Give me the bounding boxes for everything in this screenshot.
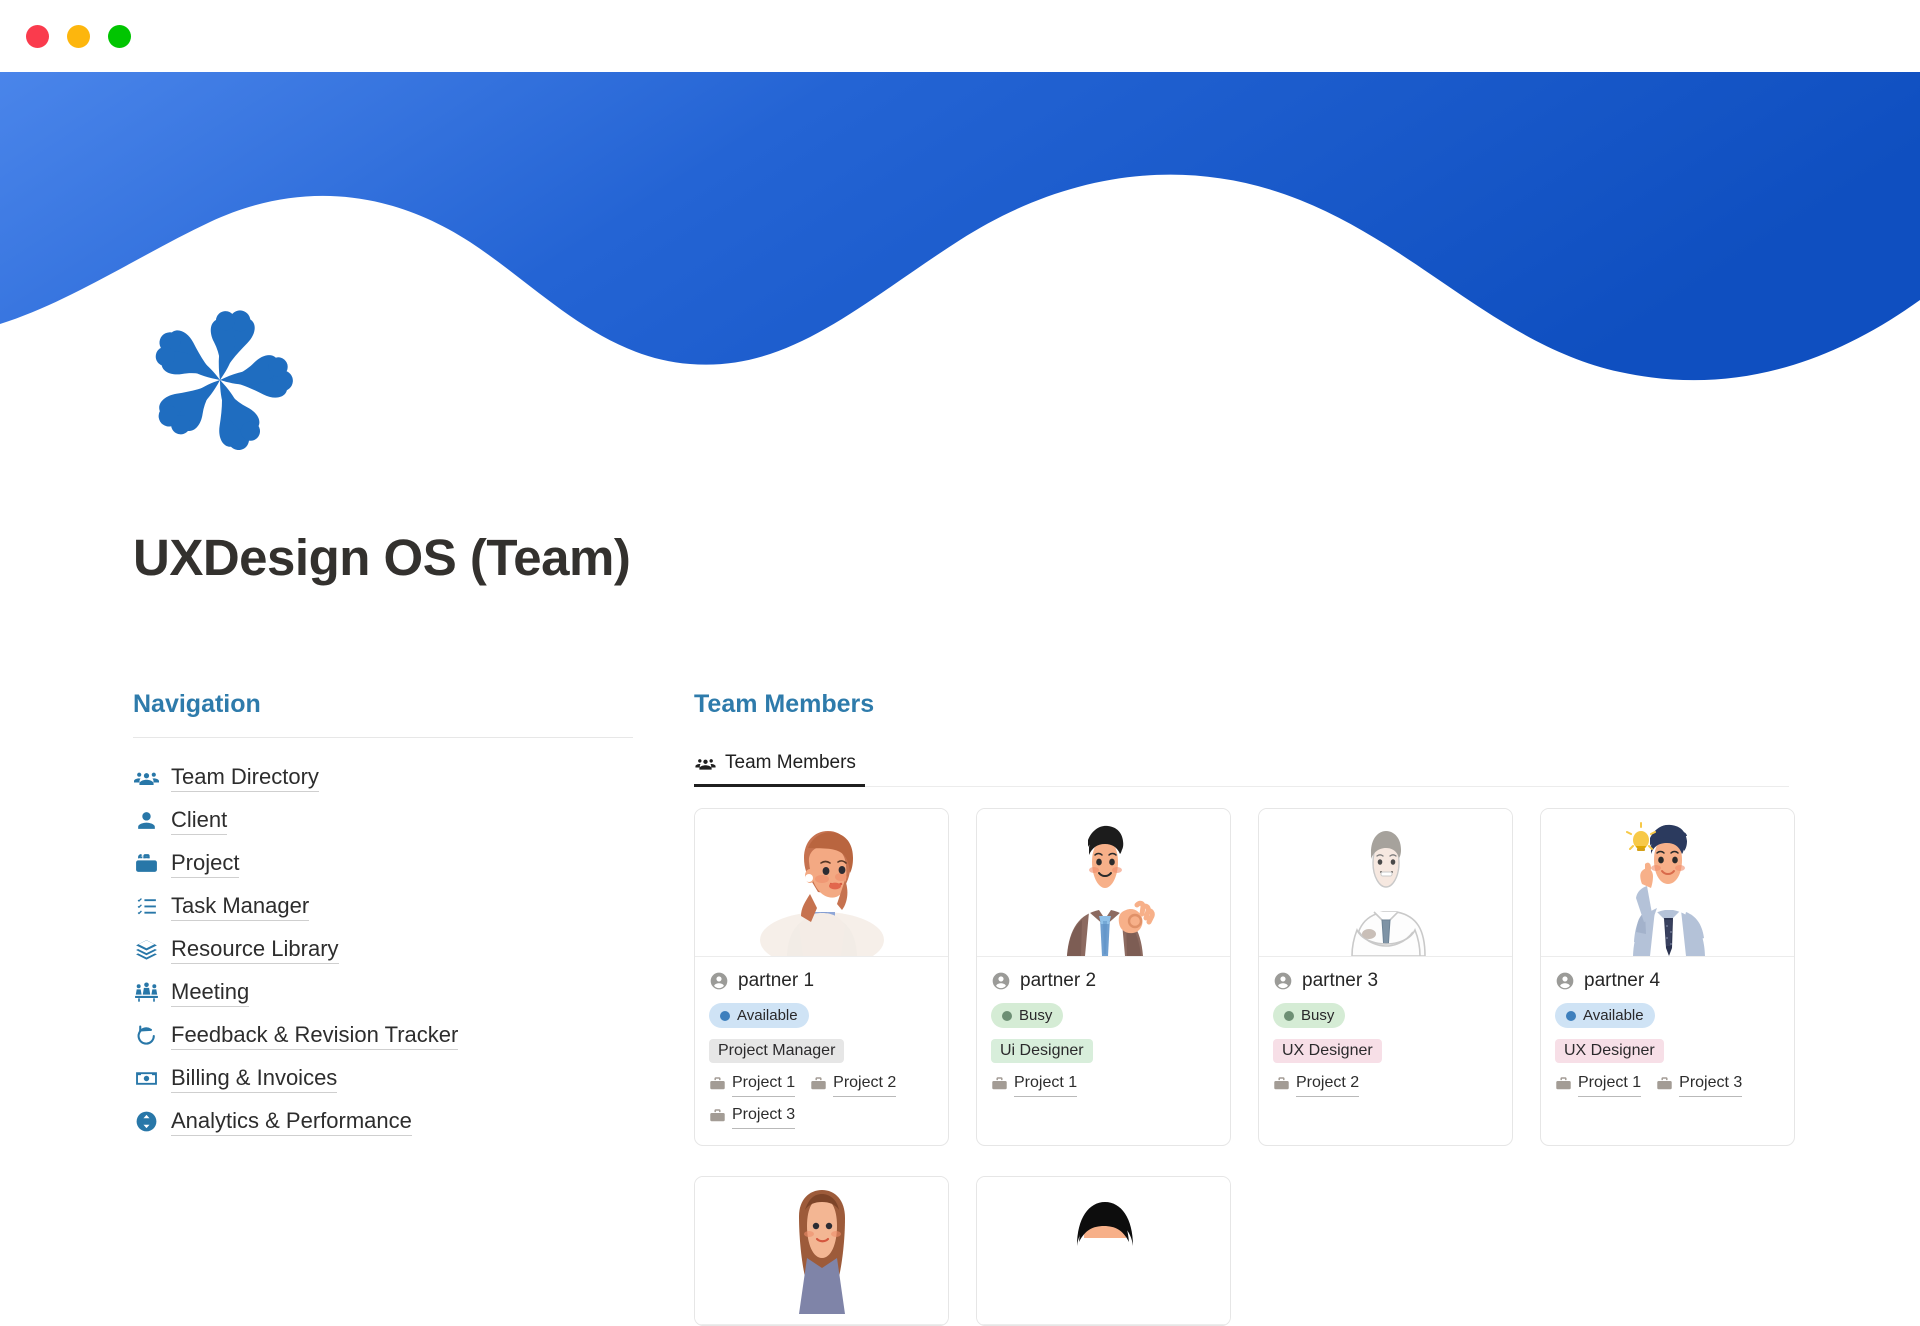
briefcase-icon — [810, 1075, 827, 1092]
member-name-row: partner 2 — [991, 970, 1216, 992]
briefcase-icon — [709, 1075, 726, 1092]
tab-team-members[interactable]: Team Members — [694, 742, 865, 787]
member-avatar — [695, 1177, 948, 1325]
project-link[interactable]: Project 1 — [991, 1071, 1077, 1097]
navigation-list: Team DirectoryClientProjectTask ManagerR… — [133, 756, 633, 1143]
nav-item-label: Billing & Invoices — [171, 1064, 337, 1094]
project-list: Project 2 — [1273, 1071, 1498, 1097]
project-link[interactable]: Project 1 — [1555, 1071, 1641, 1097]
project-label: Project 2 — [1296, 1071, 1359, 1097]
nav-item-analytics-performance[interactable]: Analytics & Performance — [133, 1100, 633, 1143]
nav-item-feedback-revision-tracker[interactable]: Feedback & Revision Tracker — [133, 1014, 633, 1057]
member-card[interactable] — [976, 1176, 1231, 1326]
role-tag: UX Designer — [1555, 1039, 1664, 1063]
nav-item-meeting[interactable]: Meeting — [133, 971, 633, 1014]
page-body: Navigation Team DirectoryClientProjectTa… — [0, 690, 1920, 1200]
role-tag: Project Manager — [709, 1039, 844, 1063]
status-dot-icon — [1002, 1011, 1012, 1021]
layers-icon — [133, 937, 159, 963]
maximize-button[interactable] — [108, 25, 131, 48]
member-name: partner 2 — [1020, 970, 1096, 992]
nav-item-label: Task Manager — [171, 892, 309, 922]
project-label: Project 3 — [732, 1103, 795, 1129]
member-avatar — [977, 809, 1230, 957]
nav-item-label: Resource Library — [171, 935, 339, 965]
meeting-room-icon — [133, 980, 159, 1006]
project-list: Project 1Project 3 — [1555, 1071, 1780, 1097]
nav-item-label: Meeting — [171, 978, 249, 1008]
status-badge: Busy — [1273, 1003, 1345, 1028]
briefcase-icon — [709, 1107, 726, 1124]
role-tag: UX Designer — [1273, 1039, 1382, 1063]
status-dot-icon — [720, 1011, 730, 1021]
nav-item-client[interactable]: Client — [133, 799, 633, 842]
project-link[interactable]: Project 3 — [709, 1103, 795, 1129]
person-circle-icon — [1555, 971, 1575, 991]
nav-item-resource-library[interactable]: Resource Library — [133, 928, 633, 971]
member-avatar — [1259, 809, 1512, 957]
status-label: Busy — [1019, 1007, 1052, 1024]
team-pinwheel-logo-icon — [140, 295, 300, 465]
person-circle-icon — [991, 971, 1011, 991]
project-link[interactable]: Project 2 — [810, 1071, 896, 1097]
navigation-heading: Navigation — [133, 690, 633, 719]
team-members-heading: Team Members — [694, 690, 1789, 719]
status-label: Available — [1583, 1007, 1644, 1024]
briefcase-icon — [133, 851, 159, 877]
window-titlebar — [0, 0, 1920, 72]
briefcase-icon — [1273, 1075, 1290, 1092]
status-dot-icon — [1566, 1011, 1576, 1021]
person-circle-icon — [709, 971, 729, 991]
member-name: partner 1 — [738, 970, 814, 992]
status-badge: Available — [709, 1003, 809, 1028]
team-members-grid: partner 1AvailableProject ManagerProject… — [694, 808, 1789, 1326]
member-card[interactable]: partner 4AvailableUX DesignerProject 1Pr… — [1540, 808, 1795, 1146]
status-badge: Available — [1555, 1003, 1655, 1028]
member-name-row: partner 3 — [1273, 970, 1498, 992]
nav-item-task-manager[interactable]: Task Manager — [133, 885, 633, 928]
member-avatar — [695, 809, 948, 957]
briefcase-icon — [1656, 1075, 1673, 1092]
project-label: Project 1 — [1014, 1071, 1077, 1097]
nav-item-label: Feedback & Revision Tracker — [171, 1021, 458, 1051]
money-icon — [133, 1066, 159, 1092]
nav-item-label: Project — [171, 849, 239, 879]
member-card-body: partner 3BusyUX DesignerProject 2 — [1259, 957, 1512, 1113]
member-card[interactable]: partner 2BusyUi DesignerProject 1 — [976, 808, 1231, 1146]
project-link[interactable]: Project 1 — [709, 1071, 795, 1097]
status-label: Busy — [1301, 1007, 1334, 1024]
nav-item-team-directory[interactable]: Team Directory — [133, 756, 633, 799]
rotate-left-icon — [133, 1023, 159, 1049]
status-label: Available — [737, 1007, 798, 1024]
nav-item-project[interactable]: Project — [133, 842, 633, 885]
briefcase-icon — [991, 1075, 1008, 1092]
group-icon — [695, 753, 716, 774]
briefcase-icon — [1555, 1075, 1572, 1092]
analytics-icon — [133, 1109, 159, 1135]
member-card[interactable]: partner 3BusyUX DesignerProject 2 — [1258, 808, 1513, 1146]
status-badge: Busy — [991, 1003, 1063, 1028]
team-members-panel: Team Members Team Members — [694, 690, 1789, 1326]
member-name-row: partner 4 — [1555, 970, 1780, 992]
page-title: UXDesign OS (Team) — [133, 528, 630, 587]
group-icon — [133, 765, 159, 791]
member-name: partner 3 — [1302, 970, 1378, 992]
member-card-body: partner 4AvailableUX DesignerProject 1Pr… — [1541, 957, 1794, 1113]
project-label: Project 2 — [833, 1071, 896, 1097]
nav-item-label: Analytics & Performance — [171, 1107, 412, 1137]
tab-label: Team Members — [725, 752, 856, 774]
traffic-light-buttons — [26, 25, 131, 48]
navigation-panel: Navigation Team DirectoryClientProjectTa… — [133, 690, 633, 1143]
project-label: Project 1 — [1578, 1071, 1641, 1097]
project-list: Project 1Project 2Project 3 — [709, 1071, 934, 1129]
nav-item-label: Client — [171, 806, 227, 836]
member-name: partner 4 — [1584, 970, 1660, 992]
minimize-button[interactable] — [67, 25, 90, 48]
member-card-body: partner 1AvailableProject ManagerProject… — [695, 957, 948, 1145]
person-circle-icon — [1273, 971, 1293, 991]
close-button[interactable] — [26, 25, 49, 48]
member-card[interactable] — [694, 1176, 949, 1326]
project-link[interactable]: Project 3 — [1656, 1071, 1742, 1097]
member-name-row: partner 1 — [709, 970, 934, 992]
app-logo — [140, 295, 300, 465]
checklist-icon — [133, 894, 159, 920]
navigation-divider — [133, 737, 633, 738]
status-dot-icon — [1284, 1011, 1294, 1021]
nav-item-label: Team Directory — [171, 763, 319, 793]
member-card[interactable]: partner 1AvailableProject ManagerProject… — [694, 808, 949, 1146]
project-label: Project 1 — [732, 1071, 795, 1097]
team-tabs: Team Members — [694, 741, 1789, 787]
member-avatar — [1541, 809, 1794, 957]
project-list: Project 1 — [991, 1071, 1216, 1097]
project-label: Project 3 — [1679, 1071, 1742, 1097]
nav-item-billing-invoices[interactable]: Billing & Invoices — [133, 1057, 633, 1100]
member-avatar — [977, 1177, 1230, 1325]
project-link[interactable]: Project 2 — [1273, 1071, 1359, 1097]
member-card-body: partner 2BusyUi DesignerProject 1 — [977, 957, 1230, 1113]
role-tag: Ui Designer — [991, 1039, 1093, 1063]
person-icon — [133, 808, 159, 834]
